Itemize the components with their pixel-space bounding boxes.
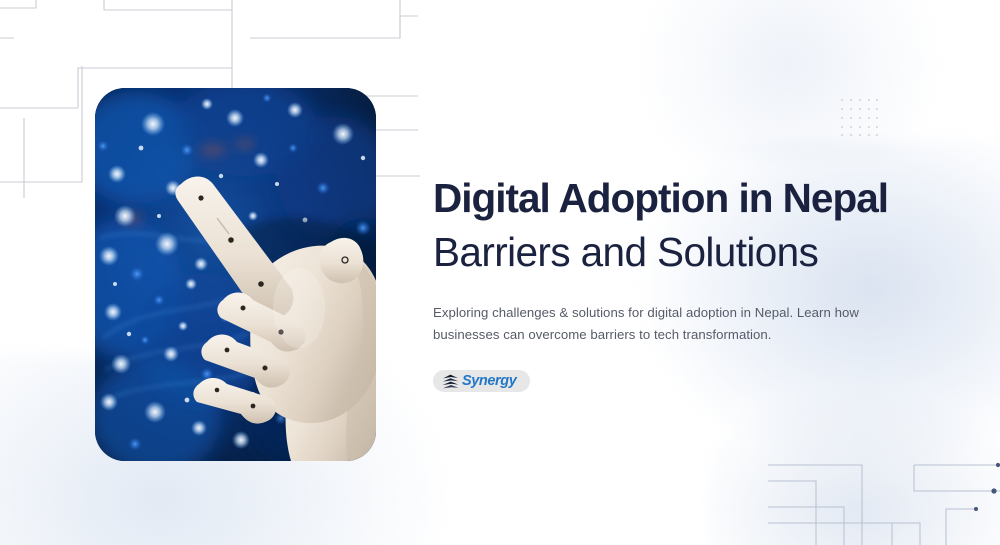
stacked-chevron-swoosh-icon: [442, 374, 459, 389]
circuit-node-dot: [974, 507, 978, 511]
hero-image: [95, 88, 376, 461]
brand-badge[interactable]: Synergy: [433, 370, 530, 392]
hero-text-block: Digital Adoption in Nepal Barriers and S…: [433, 176, 933, 394]
slide-canvas: Digital Adoption in Nepal Barriers and S…: [0, 0, 1000, 545]
dot-grid-decoration: [840, 98, 878, 136]
circuit-trace-decoration-bottom-right: [750, 435, 1000, 545]
circuit-node-dot: [991, 488, 996, 493]
hero-subtitle: Exploring challenges & solutions for dig…: [433, 302, 885, 346]
page-title-line-1: Digital Adoption in Nepal: [433, 176, 933, 222]
background-wash-bottom-right: [710, 385, 1000, 545]
page-title-line-2: Barriers and Solutions: [433, 228, 933, 277]
circuit-node-dot: [996, 463, 1000, 467]
brand-name-label: Synergy: [462, 374, 516, 389]
background-wash-top-right: [640, 0, 940, 160]
